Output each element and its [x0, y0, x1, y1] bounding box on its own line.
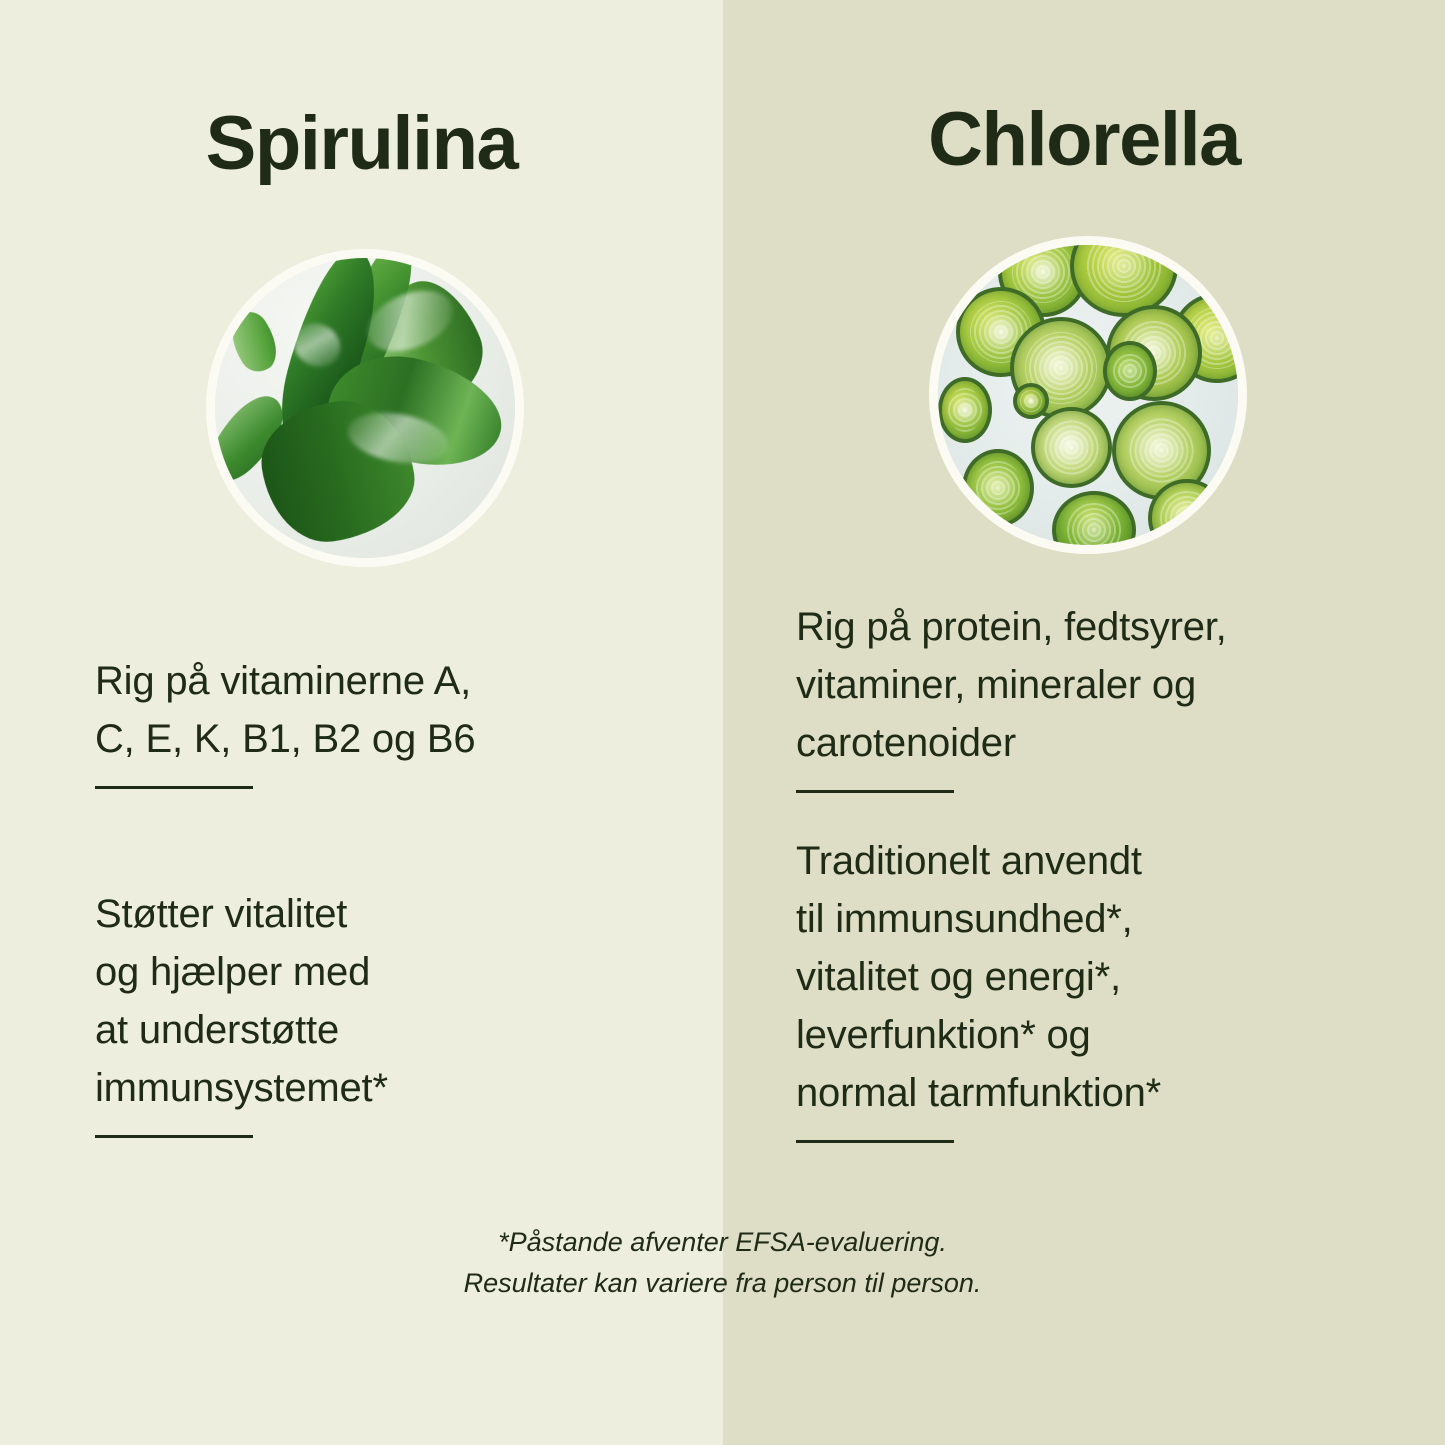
chlorella-cell — [938, 377, 992, 443]
chlorella-benefit-1: Rig på protein, fedtsyrer, vitaminer, mi… — [796, 598, 1396, 793]
chlorella-title: Chlorella — [723, 100, 1445, 180]
chlorella-benefit-2: Traditionelt anvendt til immunsundhed*, … — [796, 832, 1396, 1143]
chlorella-cell — [1031, 407, 1112, 488]
spirulina-image — [215, 258, 515, 558]
divider-rule — [95, 1135, 253, 1138]
chlorella-cell — [1103, 341, 1157, 401]
spirulina-benefit-1: Rig på vitaminerne A, C, E, K, B1, B2 og… — [95, 652, 655, 789]
spirulina-image-content — [215, 258, 515, 558]
divider-rule — [796, 1140, 954, 1143]
footnote-disclaimer: *Påstande afventer EFSA-evaluering. Resu… — [0, 1222, 1445, 1303]
spirulina-benefit-1-text: Rig på vitaminerne A, C, E, K, B1, B2 og… — [95, 652, 655, 768]
spirulina-benefit-2: Støtter vitalitet og hjælper med at unde… — [95, 885, 655, 1138]
divider-rule — [796, 790, 954, 793]
chlorella-image-content — [938, 245, 1238, 545]
spirulina-benefit-2-text: Støtter vitalitet og hjælper med at unde… — [95, 885, 655, 1117]
chlorella-benefit-2-text: Traditionelt anvendt til immunsundhed*, … — [796, 832, 1396, 1122]
chlorella-cell — [962, 449, 1034, 527]
comparison-infographic: Spirulina Rig på vitaminerne A, C, E, K,… — [0, 0, 1445, 1445]
chlorella-cell — [1013, 383, 1049, 419]
chlorella-image — [938, 245, 1238, 545]
spirulina-title: Spirulina — [0, 104, 723, 184]
chlorella-benefit-1-text: Rig på protein, fedtsyrer, vitaminer, mi… — [796, 598, 1396, 772]
divider-rule — [95, 786, 253, 789]
